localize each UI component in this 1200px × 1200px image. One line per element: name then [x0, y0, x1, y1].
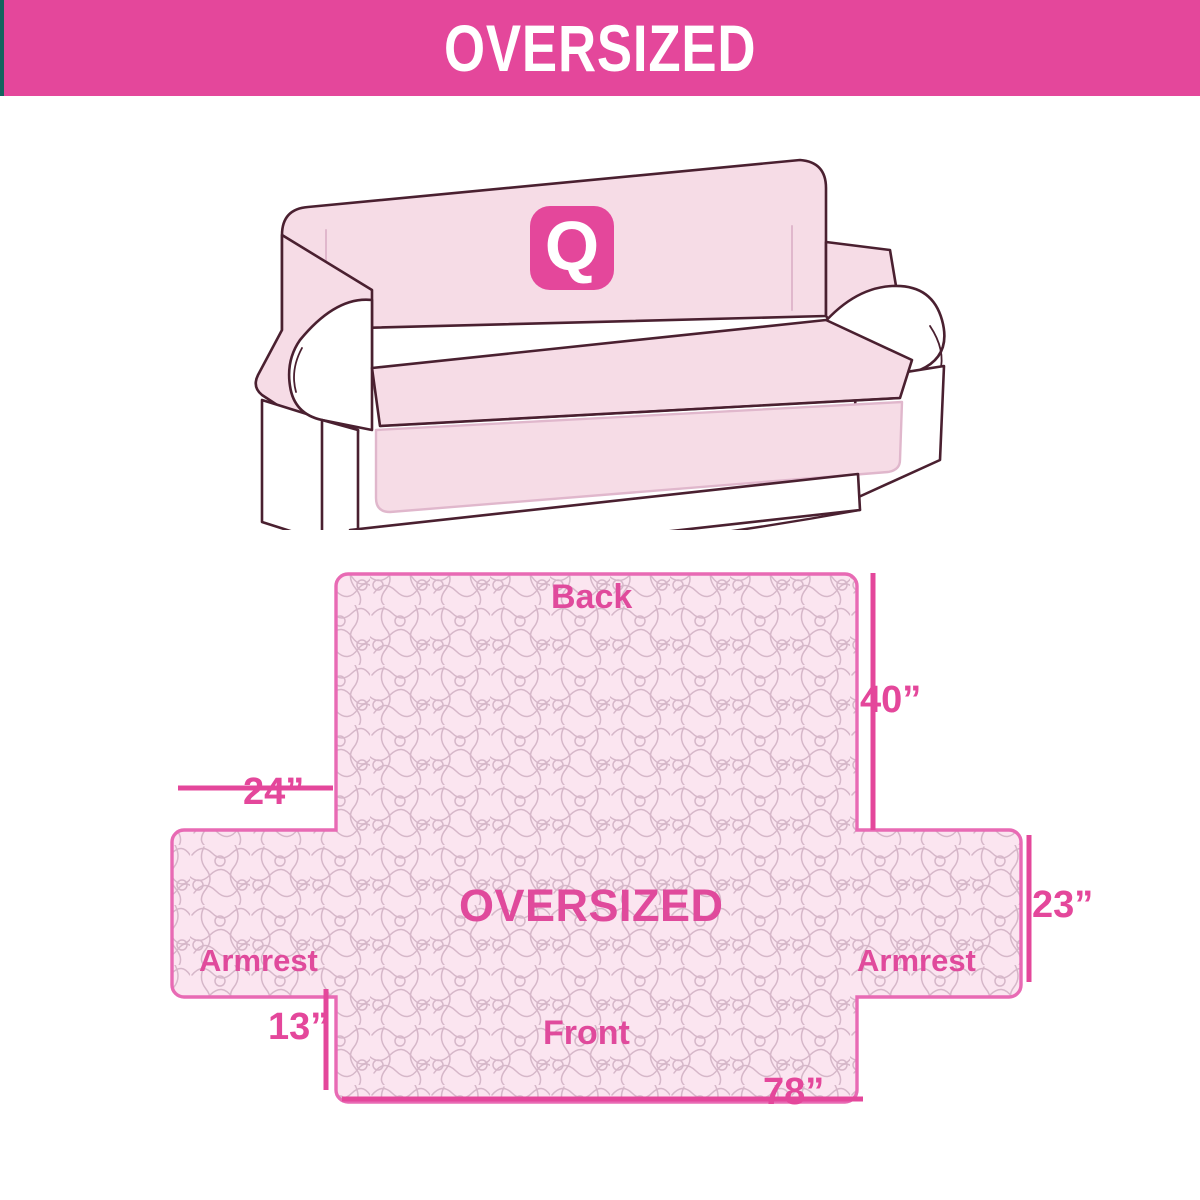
header-banner: OVERSIZED	[0, 0, 1200, 96]
page-title: OVERSIZED	[444, 15, 756, 81]
panel-label-armrest-left: Armrest	[199, 945, 318, 976]
sofa-drawing	[240, 130, 980, 530]
dimension-front-height: 13”	[268, 1008, 329, 1046]
dimension-total-width: 78”	[763, 1073, 824, 1111]
dimension-armrest-height: 23”	[1032, 886, 1093, 924]
header-edge-strip	[0, 0, 4, 96]
q-logo-letter: Q	[545, 211, 599, 281]
q-brand-logo: Q	[530, 206, 614, 290]
dimension-armrest-width: 24”	[243, 773, 304, 811]
panel-label-back: Back	[551, 580, 632, 614]
panel-label-armrest-right: Armrest	[857, 945, 976, 976]
dimension-back-height: 40”	[860, 681, 921, 719]
diagram-center-label: OVERSIZED	[459, 883, 724, 928]
sofa-illustration	[240, 130, 980, 530]
panel-label-front: Front	[543, 1016, 630, 1050]
